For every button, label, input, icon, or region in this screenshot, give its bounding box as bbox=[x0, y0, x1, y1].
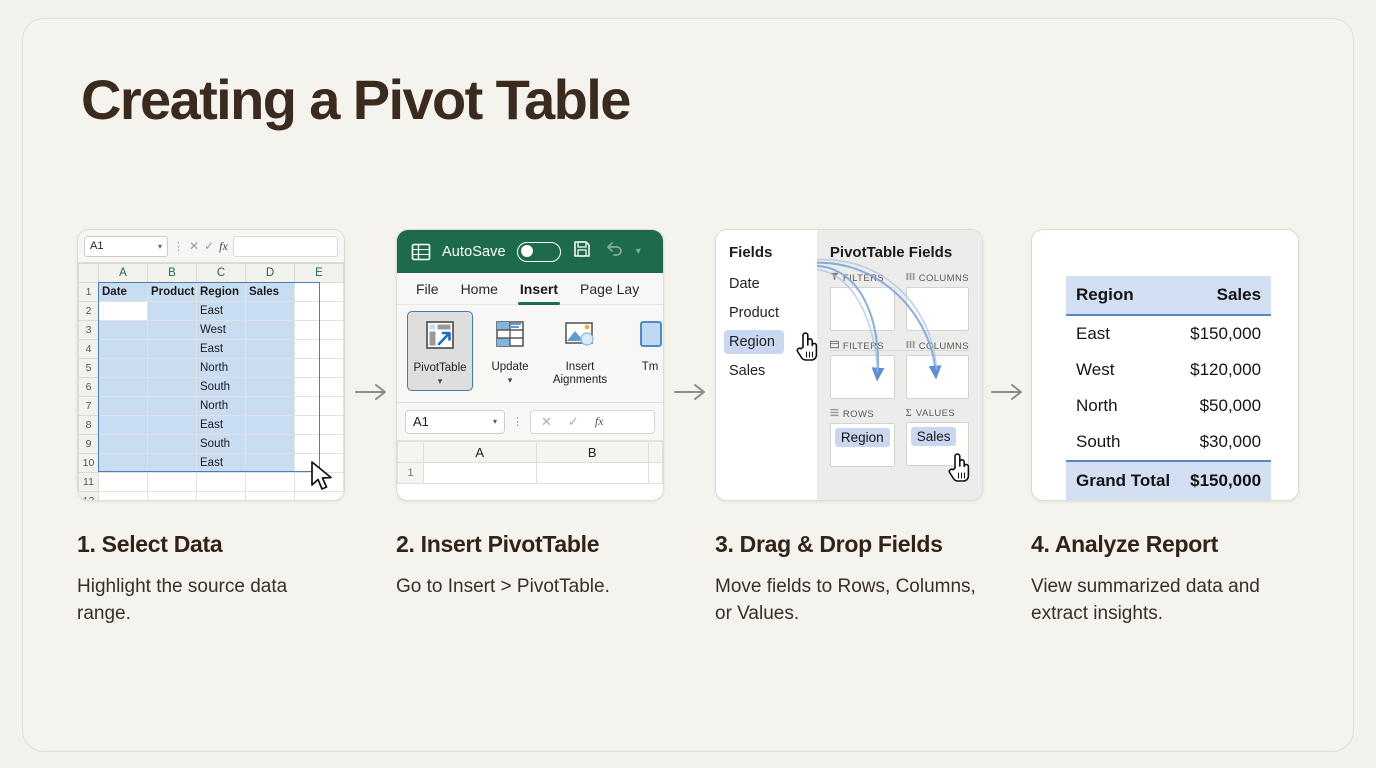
pivot-cell-sales: $120,000 bbox=[1180, 352, 1271, 388]
function-icon[interactable]: fx bbox=[219, 239, 228, 254]
grid-cell[interactable] bbox=[295, 340, 344, 359]
grid-cell[interactable] bbox=[649, 463, 663, 484]
field-list-header: Fields bbox=[729, 244, 817, 261]
pivot-result-table: RegionSalesEast$150,000West$120,000North… bbox=[1066, 276, 1271, 500]
grid-cell[interactable] bbox=[295, 302, 344, 321]
grid-row[interactable]: 6South bbox=[79, 378, 344, 397]
ribbon-button-update[interactable]: Update▾ bbox=[477, 311, 543, 389]
chevron-down-icon[interactable]: ▾ bbox=[438, 376, 443, 387]
mouse-cursor-arrow bbox=[310, 461, 336, 491]
pivot-cell-region: North bbox=[1066, 388, 1180, 424]
ribbon-button-label: PivotTable bbox=[413, 362, 466, 375]
pivot-row: West$120,000 bbox=[1066, 352, 1271, 388]
grid-row[interactable]: 4East bbox=[79, 340, 344, 359]
pivot-zone-columns[interactable]: COLUMNS bbox=[906, 272, 969, 331]
pivot-cell-sales: $150,000 bbox=[1180, 315, 1271, 352]
mouse-cursor-hand-field bbox=[793, 330, 821, 362]
pivot-zone-label-text: COLUMNS bbox=[919, 273, 969, 284]
step-connector-arrow-3 bbox=[989, 379, 1029, 405]
grid-cell[interactable] bbox=[246, 454, 295, 473]
step-3-title: 3. Drag & Drop Fields bbox=[715, 531, 983, 558]
grid-cell[interactable] bbox=[295, 283, 344, 302]
row-header-4[interactable]: 4 bbox=[79, 340, 99, 359]
grid-cell[interactable]: South bbox=[197, 378, 246, 397]
undo-icon[interactable] bbox=[603, 239, 625, 264]
pivot-total-row: Grand Total$150,000 bbox=[1066, 461, 1271, 500]
grid-corner[interactable] bbox=[79, 264, 99, 283]
excel-app-icon bbox=[411, 242, 431, 262]
grid-cell[interactable] bbox=[99, 397, 148, 416]
grid-row[interactable]: 7North bbox=[79, 397, 344, 416]
pivot-fields-panel[interactable]: Fields DateProductRegionSales PivotTable… bbox=[715, 229, 983, 501]
chevron-down-icon: ▾ bbox=[493, 417, 497, 426]
pivot-zone-dropbox[interactable] bbox=[906, 355, 969, 399]
field-list-row[interactable]: Product bbox=[729, 301, 817, 325]
grid-cell[interactable] bbox=[148, 416, 197, 435]
row-header-1[interactable]: 1 bbox=[398, 463, 424, 484]
steps-strip: A1 ▾ ⋮ ✕ ✓ fx ABCDE1DateProductRegionSal… bbox=[77, 229, 1307, 659]
pivot-fields-header: PivotTable Fields bbox=[830, 244, 969, 261]
grid-cell[interactable] bbox=[99, 378, 148, 397]
pivot-total-label: Grand Total bbox=[1066, 461, 1180, 500]
grid-cell[interactable] bbox=[246, 302, 295, 321]
pivot-zone-label: ΣVALUES bbox=[906, 408, 969, 419]
pivot-zone-label: FILTERS bbox=[830, 272, 895, 284]
pivot-row: South$30,000 bbox=[1066, 424, 1271, 461]
update-icon bbox=[493, 317, 527, 356]
pivot-chip-region[interactable]: Region bbox=[835, 428, 890, 447]
toggle-knob bbox=[521, 245, 533, 257]
pivot-zone-columns[interactable]: COLUMNS bbox=[906, 340, 969, 399]
grid-row[interactable]: 5North bbox=[79, 359, 344, 378]
column-header-B[interactable]: B bbox=[536, 442, 649, 463]
ribbon-button-tm[interactable]: Tm bbox=[617, 311, 663, 377]
field-item-sales[interactable]: Sales bbox=[724, 359, 774, 383]
grid-cell[interactable]: North bbox=[197, 359, 246, 378]
grid-cell[interactable]: Product bbox=[148, 283, 197, 302]
grid-cell[interactable] bbox=[246, 321, 295, 340]
grid-cell[interactable] bbox=[295, 492, 344, 502]
grid-cell[interactable]: East bbox=[197, 416, 246, 435]
pivot-header-row: RegionSales bbox=[1066, 276, 1271, 315]
row-header-5[interactable]: 5 bbox=[79, 359, 99, 378]
column-header-A[interactable]: A bbox=[424, 442, 537, 463]
pivot-cell-sales: $50,000 bbox=[1180, 388, 1271, 424]
grid-cell[interactable] bbox=[148, 321, 197, 340]
grid-cell[interactable] bbox=[148, 454, 197, 473]
pivot-zone-label: COLUMNS bbox=[906, 272, 969, 284]
grid-cell[interactable] bbox=[99, 473, 148, 492]
chevron-down-icon[interactable]: ▾ bbox=[636, 246, 641, 257]
pivot-zone-dropbox[interactable] bbox=[906, 287, 969, 331]
row-header-10[interactable]: 10 bbox=[79, 454, 99, 473]
grid-cell[interactable] bbox=[99, 454, 148, 473]
step-2-desc: Go to Insert > PivotTable. bbox=[396, 574, 664, 601]
pivot-zone-rows[interactable]: ROWSRegion bbox=[830, 408, 895, 467]
grid-corner[interactable] bbox=[398, 442, 424, 463]
pivot-cell-region: East bbox=[1066, 315, 1180, 352]
grid-cell[interactable] bbox=[148, 435, 197, 454]
function-icon[interactable]: fx bbox=[595, 414, 604, 429]
pivot-cell-region: South bbox=[1066, 424, 1180, 461]
column-header-C[interactable]: C bbox=[197, 264, 246, 283]
grid-cell[interactable] bbox=[295, 359, 344, 378]
pivot-row: North$50,000 bbox=[1066, 388, 1271, 424]
pivottable-icon bbox=[423, 318, 457, 357]
grid-cell[interactable] bbox=[246, 416, 295, 435]
grid-cell[interactable] bbox=[148, 340, 197, 359]
row-header-1[interactable]: 1 bbox=[79, 283, 99, 302]
excel-name-box[interactable]: A1 ▾ bbox=[405, 410, 505, 434]
pivot-zone-dropbox[interactable] bbox=[830, 355, 895, 399]
grid-cell[interactable]: East bbox=[197, 302, 246, 321]
ribbon-tab-page-lay[interactable]: Page Lay bbox=[569, 274, 650, 304]
grid-cell[interactable] bbox=[197, 492, 246, 502]
column-header-B[interactable]: B bbox=[148, 264, 197, 283]
rows-icon bbox=[830, 408, 839, 420]
step-4-title: 4. Analyze Report bbox=[1031, 531, 1299, 558]
ribbon-tab-home[interactable]: Home bbox=[450, 274, 509, 304]
pivot-zone-dropbox[interactable]: Region bbox=[830, 423, 895, 467]
name-box-value: A1 bbox=[90, 240, 103, 252]
pivot-cell-region: West bbox=[1066, 352, 1180, 388]
spreadsheet-formula-bar: A1 ▾ ⋮ ✕ ✓ fx bbox=[78, 230, 344, 263]
grid-row[interactable]: 11 bbox=[79, 473, 344, 492]
step-2-title: 2. Insert PivotTable bbox=[396, 531, 664, 558]
grid-cell[interactable]: North bbox=[197, 397, 246, 416]
grid-cell[interactable]: Date bbox=[99, 283, 148, 302]
pivot-zone-filters[interactable]: FILTERS bbox=[830, 340, 895, 399]
pivot-zone-label-text: ROWS bbox=[843, 409, 874, 420]
grid-cell[interactable] bbox=[246, 435, 295, 454]
row-header-6[interactable]: 6 bbox=[79, 378, 99, 397]
ribbon-button-label: Insert Aignments bbox=[549, 361, 611, 387]
grid-cell[interactable] bbox=[246, 473, 295, 492]
formula-input[interactable] bbox=[233, 236, 338, 257]
grid-row[interactable]: 10East bbox=[79, 454, 344, 473]
mouse-cursor-hand-values bbox=[945, 451, 973, 483]
grid-cell[interactable] bbox=[99, 359, 148, 378]
grid-cell[interactable] bbox=[295, 378, 344, 397]
row-header-11[interactable]: 11 bbox=[79, 473, 99, 492]
grid-cell[interactable] bbox=[99, 321, 148, 340]
excel-formula-bar: A1 ▾ ⋮ ✕ ✓ fx bbox=[397, 403, 663, 441]
ribbon-tab-bar[interactable]: FileHomeInsertPage Lay bbox=[397, 273, 663, 305]
pivot-cell-sales: $30,000 bbox=[1180, 424, 1271, 461]
grid-cell[interactable] bbox=[148, 397, 197, 416]
grid-cell[interactable] bbox=[148, 359, 197, 378]
row-header-12[interactable]: 12 bbox=[79, 492, 99, 502]
pivot-zone-dropbox[interactable] bbox=[830, 287, 895, 331]
ribbon-tab-insert[interactable]: Insert bbox=[509, 274, 569, 304]
grid-cell[interactable] bbox=[246, 340, 295, 359]
grid-row[interactable]: 9South bbox=[79, 435, 344, 454]
poster-card: Creating a Pivot Table A1 ▾ ⋮ ✕ ✓ bbox=[22, 18, 1354, 752]
pivot-row: East$150,000 bbox=[1066, 315, 1271, 352]
step-connector-arrow-2 bbox=[672, 379, 712, 405]
field-list[interactable]: Fields DateProductRegionSales bbox=[716, 230, 817, 501]
pivot-col-sales: Sales bbox=[1180, 276, 1271, 315]
autosave-label: AutoSave bbox=[442, 244, 506, 260]
row-header-2[interactable]: 2 bbox=[79, 302, 99, 321]
column-header-D[interactable]: D bbox=[246, 264, 295, 283]
grid-cell[interactable]: South bbox=[197, 435, 246, 454]
step-1: A1 ▾ ⋮ ✕ ✓ fx ABCDE1DateProductRegionSal… bbox=[77, 229, 345, 628]
chevron-down-icon: ▾ bbox=[158, 242, 162, 251]
field-list-row[interactable]: Date bbox=[729, 272, 817, 296]
ribbon-button-label: Update bbox=[491, 361, 528, 374]
grid-cell[interactable]: West bbox=[197, 321, 246, 340]
step-3: Fields DateProductRegionSales PivotTable… bbox=[715, 229, 983, 628]
excel-formula-input[interactable]: ✕ ✓ fx bbox=[530, 410, 655, 434]
filter-icon bbox=[830, 272, 839, 284]
field-item-product[interactable]: Product bbox=[724, 301, 788, 325]
ribbon-button-pivottable[interactable]: PivotTable▾ bbox=[407, 311, 473, 391]
grid-cell[interactable] bbox=[246, 378, 295, 397]
kebab-icon[interactable]: ⋮ bbox=[173, 240, 184, 253]
grid-cell[interactable] bbox=[295, 321, 344, 340]
row-header-3[interactable]: 3 bbox=[79, 321, 99, 340]
grid-cell[interactable] bbox=[197, 473, 246, 492]
excel-name-box-value: A1 bbox=[413, 414, 429, 429]
grid-cell[interactable]: Sales bbox=[246, 283, 295, 302]
pivot-result-panel[interactable]: RegionSalesEast$150,000West$120,000North… bbox=[1031, 229, 1299, 501]
grid-cell[interactable] bbox=[148, 473, 197, 492]
row-header-8[interactable]: 8 bbox=[79, 416, 99, 435]
field-item-date[interactable]: Date bbox=[724, 272, 769, 296]
step-4-desc: View summarized data and extract insight… bbox=[1031, 574, 1299, 628]
step-2: AutoSave ▾ FileHomeInsertPage Lay PivotT… bbox=[396, 229, 664, 601]
pivot-chip-sales[interactable]: Sales bbox=[911, 427, 957, 446]
grid-cell[interactable]: East bbox=[197, 454, 246, 473]
sigma-icon: Σ bbox=[906, 408, 912, 419]
grid-row[interactable]: 2East bbox=[79, 302, 344, 321]
column-header-next[interactable] bbox=[649, 442, 663, 463]
grid-cell[interactable] bbox=[99, 416, 148, 435]
autosave-toggle[interactable] bbox=[517, 242, 561, 262]
pivot-total-value: $150,000 bbox=[1180, 461, 1271, 500]
step-1-title: 1. Select Data bbox=[77, 531, 345, 558]
spreadsheet-panel[interactable]: A1 ▾ ⋮ ✕ ✓ fx ABCDE1DateProductRegionSal… bbox=[77, 229, 345, 501]
excel-ribbon-panel[interactable]: AutoSave ▾ FileHomeInsertPage Lay PivotT… bbox=[396, 229, 664, 501]
step-connector-arrow-1 bbox=[353, 379, 393, 405]
chevron-down-icon[interactable]: ▾ bbox=[508, 375, 513, 386]
save-icon[interactable] bbox=[572, 239, 592, 264]
grid-row[interactable]: 1DateProductRegionSales bbox=[79, 283, 344, 302]
row-header-9[interactable]: 9 bbox=[79, 435, 99, 454]
grid-cell[interactable] bbox=[148, 378, 197, 397]
grid-cell[interactable] bbox=[148, 492, 197, 502]
spreadsheet-grid[interactable]: ABCDE1DateProductRegionSales2East3West4E… bbox=[78, 263, 344, 501]
grid-cell[interactable] bbox=[246, 492, 295, 502]
insert-aignments-icon bbox=[563, 317, 597, 356]
tm-icon bbox=[633, 317, 663, 356]
ribbon-button-label: Tm bbox=[642, 361, 659, 374]
grid-cell[interactable] bbox=[295, 435, 344, 454]
step-3-desc: Move fields to Rows, Columns, or Values. bbox=[715, 574, 983, 628]
pivot-zone-label-text: VALUES bbox=[916, 408, 955, 419]
grid-cell[interactable]: Region bbox=[197, 283, 246, 302]
grid-row[interactable]: 3West bbox=[79, 321, 344, 340]
column-header-E[interactable]: E bbox=[295, 264, 344, 283]
cancel-icon[interactable]: ✕ bbox=[189, 239, 199, 253]
excel-mini-grid[interactable]: AB1 bbox=[397, 441, 663, 485]
field-item-region[interactable]: Region bbox=[724, 330, 784, 354]
field-list-row[interactable]: Sales bbox=[729, 359, 817, 383]
pivot-zone-label: ROWS bbox=[830, 408, 895, 420]
grid-cell[interactable] bbox=[246, 397, 295, 416]
grid-cell[interactable] bbox=[99, 302, 148, 321]
grid-cell[interactable] bbox=[424, 463, 537, 484]
ribbon-button-insert-aignments[interactable]: Insert Aignments bbox=[547, 311, 613, 390]
grid-cell[interactable] bbox=[295, 397, 344, 416]
step-1-desc: Highlight the source data range. bbox=[77, 574, 345, 628]
name-box[interactable]: A1 ▾ bbox=[84, 236, 168, 257]
step-4: RegionSalesEast$150,000West$120,000North… bbox=[1031, 229, 1299, 628]
pivot-zone-filters[interactable]: FILTERS bbox=[830, 272, 895, 331]
kebab-icon[interactable]: ⋮ bbox=[512, 415, 523, 428]
columns-icon bbox=[906, 272, 915, 284]
confirm-icon[interactable]: ✓ bbox=[204, 239, 214, 253]
confirm-icon[interactable]: ✓ bbox=[568, 414, 579, 430]
grid-cell[interactable] bbox=[148, 302, 197, 321]
column-header-A[interactable]: A bbox=[99, 264, 148, 283]
excel-title-bar: AutoSave ▾ bbox=[397, 230, 663, 273]
page-title: Creating a Pivot Table bbox=[81, 67, 630, 132]
grid-row[interactable]: 12 bbox=[79, 492, 344, 502]
grid-cell[interactable] bbox=[99, 340, 148, 359]
cancel-icon[interactable]: ✕ bbox=[541, 414, 552, 430]
grid-cell[interactable] bbox=[295, 416, 344, 435]
grid-cell[interactable]: East bbox=[197, 340, 246, 359]
row-header-7[interactable]: 7 bbox=[79, 397, 99, 416]
grid-cell[interactable] bbox=[536, 463, 649, 484]
grid-cell[interactable] bbox=[99, 492, 148, 502]
zone-divider bbox=[830, 350, 969, 351]
grid-cell[interactable] bbox=[99, 435, 148, 454]
ribbon-command-group[interactable]: PivotTable▾Update▾Insert AignmentsTm bbox=[397, 305, 663, 403]
ribbon-tab-file[interactable]: File bbox=[405, 274, 450, 304]
grid-row[interactable]: 8East bbox=[79, 416, 344, 435]
pivot-col-region: Region bbox=[1066, 276, 1180, 315]
pivot-zone-label-text: FILTERS bbox=[843, 273, 884, 284]
grid-cell[interactable] bbox=[246, 359, 295, 378]
